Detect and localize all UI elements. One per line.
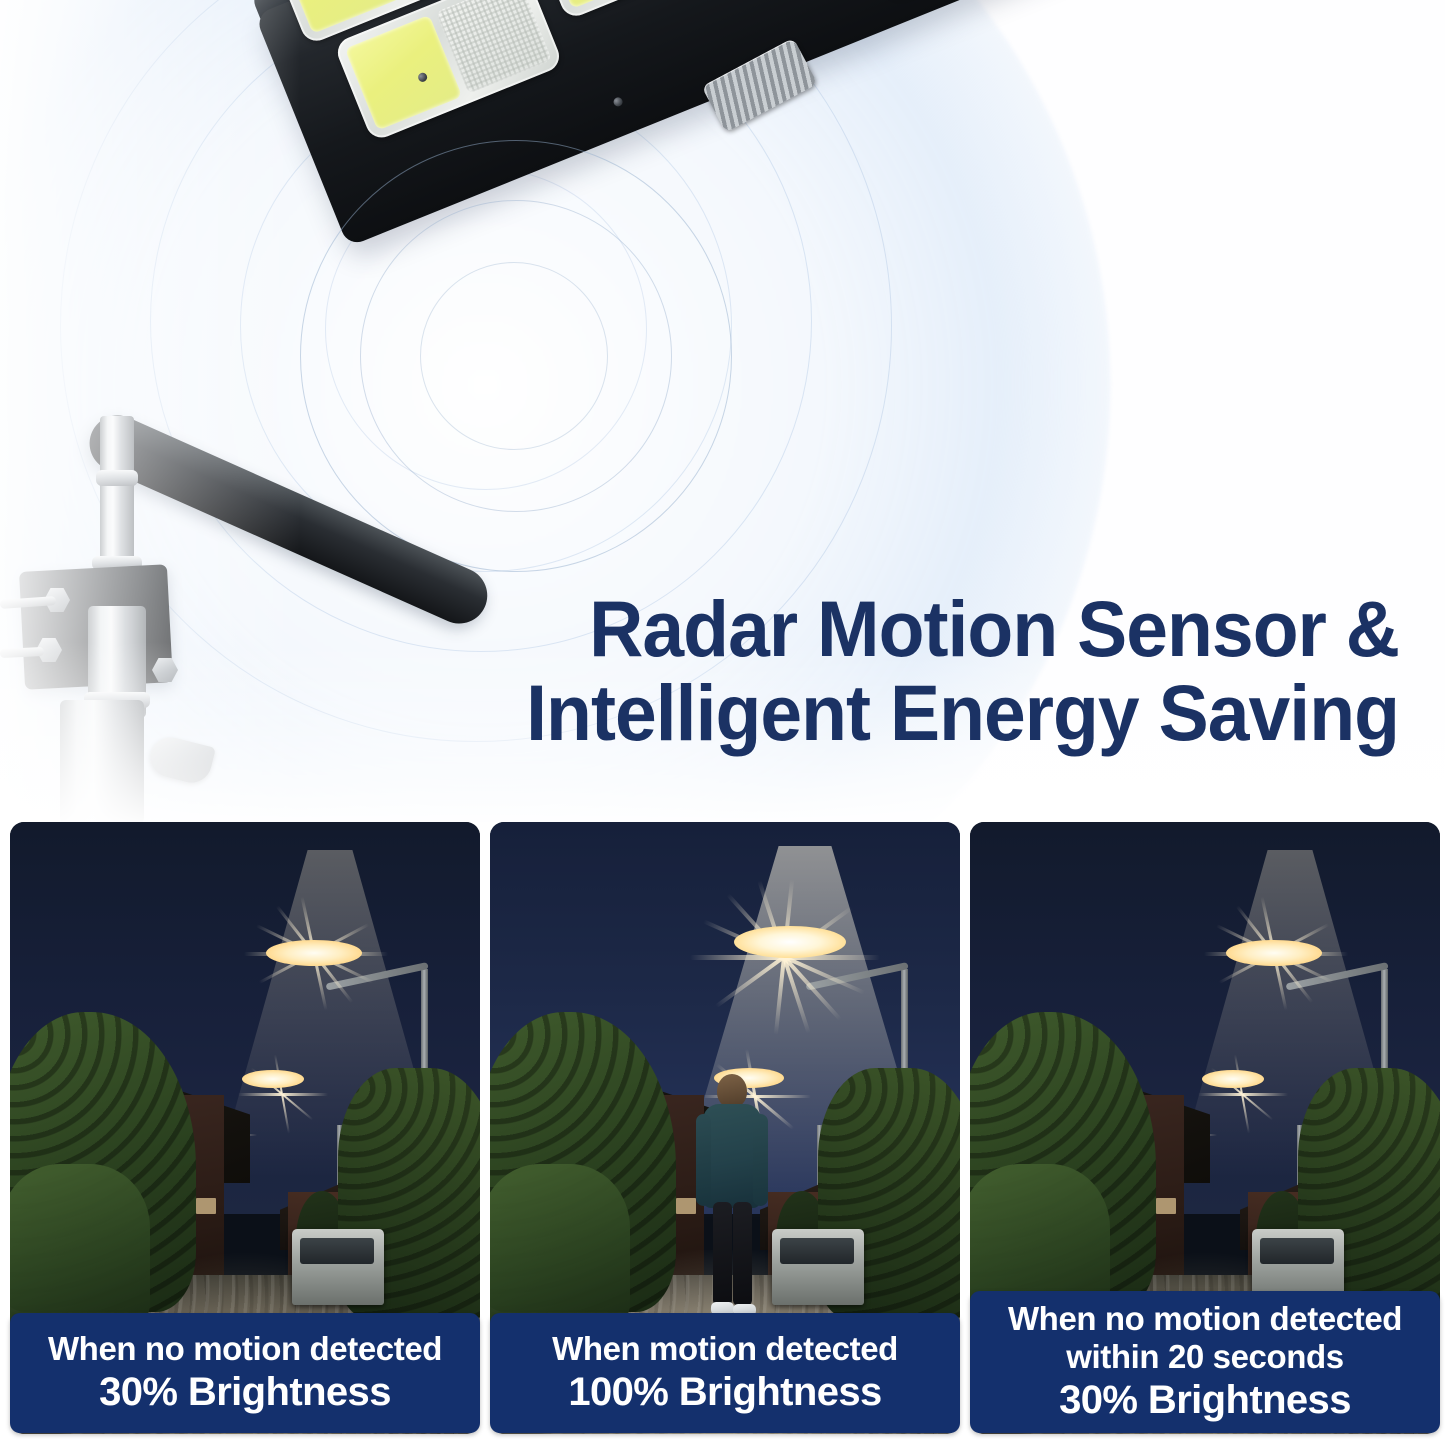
caption-no-motion-timeout: When no motion detected within 20 second… (970, 1291, 1440, 1433)
van-rear-window (1260, 1238, 1334, 1264)
caption-no-motion: When no motion detected 30% Brightness (10, 1313, 480, 1433)
street-lamp-head (266, 940, 362, 966)
hero-section: Radar Motion Sensor & Intelligent Energy… (0, 0, 1445, 822)
hedge-left-front (10, 1164, 150, 1324)
window (196, 1198, 216, 1214)
van-rear-window (300, 1238, 374, 1264)
street-lamp-head (734, 926, 846, 958)
hedge-left-front (490, 1164, 630, 1324)
person-leg-right (733, 1202, 752, 1306)
person-arm-right (753, 1114, 768, 1206)
caption-brightness-value: 30% Brightness (10, 1369, 480, 1416)
caption-line-2: within 20 seconds (970, 1338, 1440, 1376)
street-lamp-head-distant (242, 1070, 304, 1088)
product-feature-infographic: Radar Motion Sensor & Intelligent Energy… (0, 0, 1445, 1445)
page-title: Radar Motion Sensor & Intelligent Energy… (440, 587, 1400, 754)
parked-van (292, 1229, 384, 1305)
caption-brightness-value: 30% Brightness (970, 1377, 1440, 1424)
person-arm-left (696, 1114, 711, 1206)
van-rear-window (780, 1238, 854, 1264)
street-lamp-head-distant (1202, 1070, 1264, 1088)
headline-line-1: Radar Motion Sensor & (589, 584, 1399, 673)
caption-motion-detected: When motion detected 100% Brightness (490, 1313, 960, 1433)
street-lamp-head (1226, 940, 1322, 966)
person-leg-left (713, 1202, 732, 1306)
caption-line-1: When no motion detected (10, 1330, 480, 1368)
headline-line-2: Intelligent Energy Saving (440, 671, 1400, 755)
person-head (717, 1074, 747, 1108)
window (1156, 1198, 1176, 1214)
sensor-wave-ring (420, 262, 608, 450)
parked-van (772, 1229, 864, 1305)
caption-line-1: When no motion detected (970, 1300, 1440, 1338)
caption-brightness-value: 100% Brightness (490, 1369, 960, 1416)
window (676, 1198, 696, 1214)
caption-line-1: When motion detected (490, 1330, 960, 1368)
pedestrian-figure (695, 1074, 769, 1324)
